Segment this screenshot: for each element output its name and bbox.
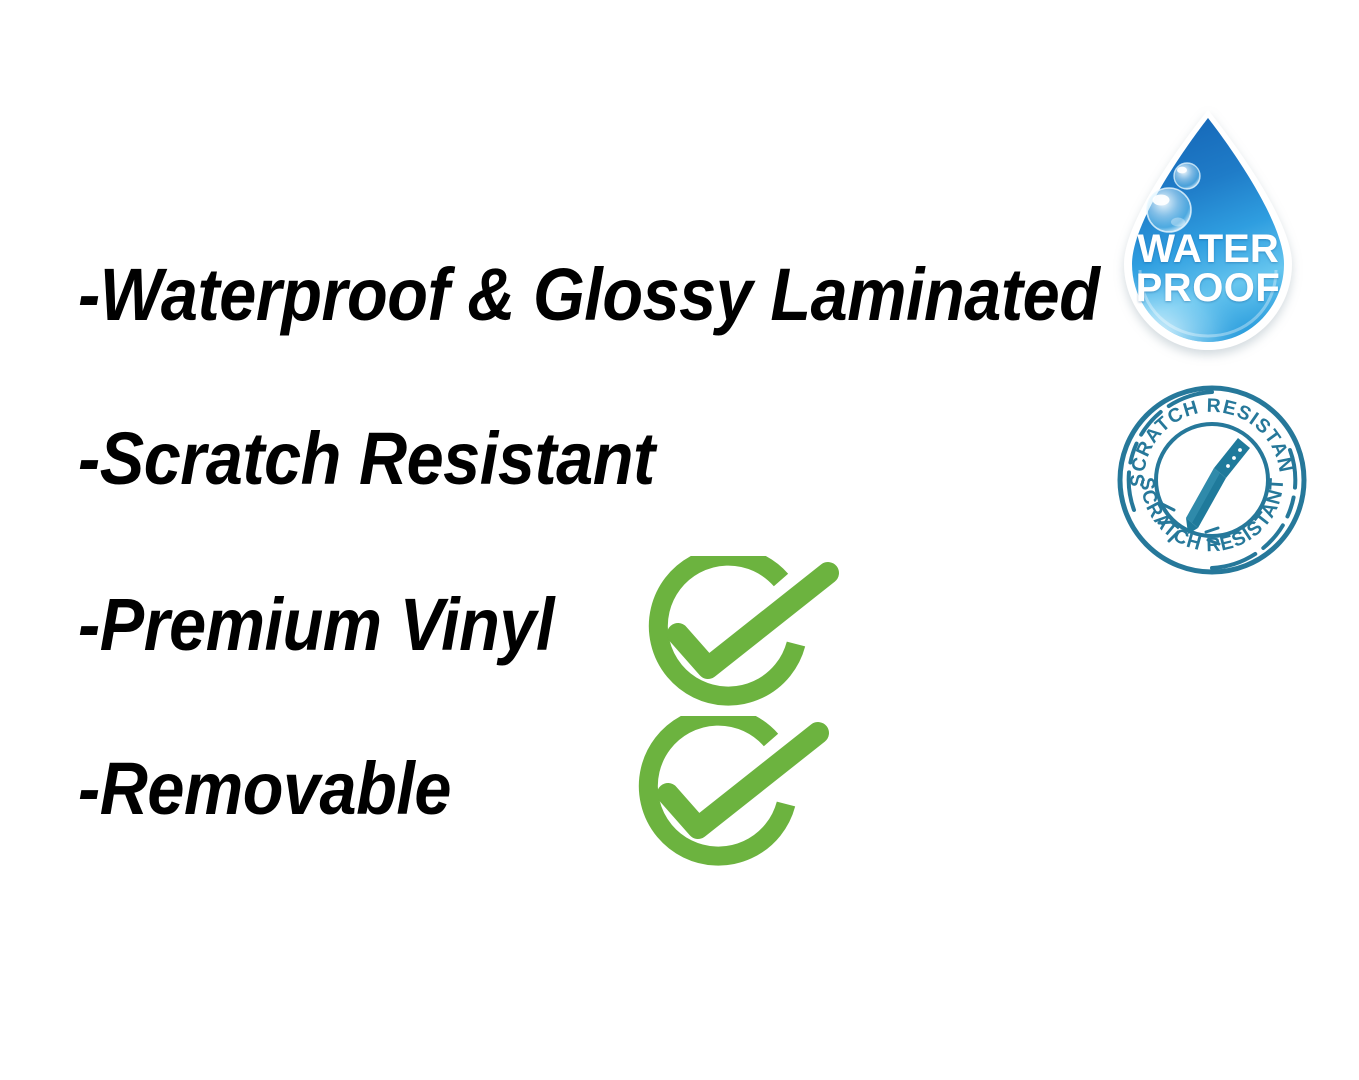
check-tick xyxy=(678,573,828,668)
droplet-bubble-large xyxy=(1147,188,1191,232)
scratch-resistant-badge: SCRATCH RESISTANT SCRATCH RESISTANT xyxy=(1114,382,1310,578)
check-circle-icon xyxy=(636,556,846,716)
water-droplet-icon xyxy=(1106,104,1310,366)
feature-item-premium-vinyl: -Premium Vinyl xyxy=(78,588,554,662)
product-feature-graphic: -Waterproof & Glossy Laminated -Scratch … xyxy=(0,0,1359,1080)
feature-item-removable: -Removable xyxy=(78,752,451,826)
check-mark-premium-vinyl xyxy=(636,556,846,716)
feature-item-scratch-resistant: -Scratch Resistant xyxy=(78,422,655,496)
feature-list: -Waterproof & Glossy Laminated -Scratch … xyxy=(0,0,1100,1080)
knife-handle xyxy=(1214,438,1250,478)
check-mark-removable xyxy=(626,716,836,876)
feature-item-waterproof-glossy-laminated: -Waterproof & Glossy Laminated xyxy=(78,258,1099,332)
droplet-bubble-small xyxy=(1174,163,1200,189)
seal-top-arc-text: SCRATCH RESISTANT xyxy=(1114,382,1297,487)
check-tick xyxy=(668,733,818,828)
knife-seal-icon: SCRATCH RESISTANT SCRATCH RESISTANT xyxy=(1114,382,1310,578)
waterproof-badge: WATER PROOF xyxy=(1106,104,1310,366)
check-circle-icon xyxy=(626,716,836,876)
